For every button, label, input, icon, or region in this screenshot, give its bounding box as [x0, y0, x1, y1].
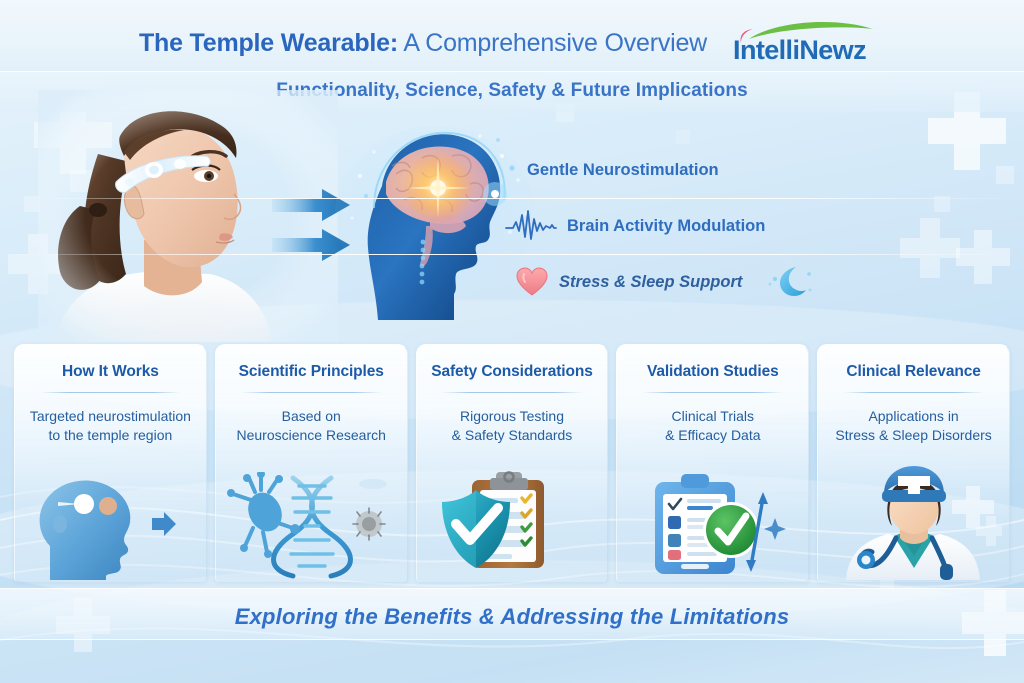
feature-label: Stress & Sleep Support [559, 273, 742, 292]
intellinewz-logo[interactable]: IntelliNewz [733, 20, 885, 66]
feature-label: Gentle Neurostimulation [527, 161, 719, 180]
card-divider [241, 392, 382, 393]
card-divider [441, 392, 582, 393]
clipboard-check-icon [625, 468, 801, 580]
card-body-line: Stress & Sleep Disorders [818, 426, 1009, 445]
card-body-line: & Efficacy Data [617, 426, 808, 445]
card-body-line: Targeted neurostimulation [15, 407, 206, 426]
infographic-page: The Temple Wearable: A Comprehensive Ove… [0, 0, 1024, 683]
hero-section: Gentle Neurostimulation Brain Activity M… [0, 112, 1024, 342]
card-body: Based on Neuroscience Research [216, 407, 407, 446]
card-divider [40, 392, 181, 393]
card-body-line: Applications in [818, 407, 1009, 426]
card-divider [843, 392, 984, 393]
page-title: The Temple Wearable: A Comprehensive Ove… [139, 29, 707, 58]
footer-tagline: Exploring the Benefits & Addressing the … [0, 604, 1024, 630]
card-body-line: Neuroscience Research [216, 426, 407, 445]
card-icon-slot [15, 468, 206, 580]
card-title: Safety Considerations [417, 363, 608, 381]
doctor-icon [826, 464, 1002, 580]
card-validation-studies[interactable]: Validation Studies Clinical Trials & Eff… [616, 344, 809, 582]
card-title: Validation Studies [617, 363, 808, 381]
dna-neuron-icon [223, 472, 399, 580]
card-icon-slot [818, 468, 1009, 580]
card-title: Clinical Relevance [818, 363, 1009, 381]
shield-clipboard-icon [424, 468, 600, 580]
card-body: Rigorous Testing & Safety Standards [417, 407, 608, 446]
card-clinical-relevance[interactable]: Clinical Relevance Applications in Stres… [817, 344, 1010, 582]
hero-feature-list: Gentle Neurostimulation Brain Activity M… [505, 142, 905, 310]
feature-row: Stress & Sleep Support [505, 254, 905, 310]
feature-row: Gentle Neurostimulation [505, 142, 905, 198]
logo-text: IntelliNewz [733, 35, 866, 66]
moon-icon [766, 265, 812, 299]
page-title-separator: : [390, 29, 398, 57]
header-bar: The Temple Wearable: A Comprehensive Ove… [0, 0, 1024, 72]
card-how-it-works[interactable]: How It Works Targeted neurostimulation t… [14, 344, 207, 582]
card-divider [642, 392, 783, 393]
heart-icon [515, 266, 549, 298]
feature-row: Brain Activity Modulation [505, 198, 905, 254]
card-body: Targeted neurostimulation to the temple … [15, 407, 206, 446]
feature-cards-row: How It Works Targeted neurostimulation t… [14, 344, 1010, 582]
card-body: Clinical Trials & Efficacy Data [617, 407, 808, 446]
waveform-icon [505, 209, 557, 243]
page-title-light: A Comprehensive Overview [403, 29, 707, 57]
head-stimulation-icon [22, 472, 198, 580]
card-title: How It Works [15, 363, 206, 381]
page-title-bold: The Temple Wearable [139, 29, 390, 57]
card-body-line: & Safety Standards [417, 426, 608, 445]
card-icon-slot [417, 468, 608, 580]
card-body: Applications in Stress & Sleep Disorders [818, 407, 1009, 446]
card-icon-slot [216, 468, 407, 580]
card-body-line: Clinical Trials [617, 407, 808, 426]
card-scientific-principles[interactable]: Scientific Principles Based on Neuroscie… [215, 344, 408, 582]
card-body-line: Rigorous Testing [417, 407, 608, 426]
feature-label: Brain Activity Modulation [567, 217, 765, 236]
card-icon-slot [617, 468, 808, 580]
card-title: Scientific Principles [216, 363, 407, 381]
card-body-line: to the temple region [15, 426, 206, 445]
card-body-line: Based on [216, 407, 407, 426]
card-safety-considerations[interactable]: Safety Considerations Rigorous Testing &… [416, 344, 609, 582]
